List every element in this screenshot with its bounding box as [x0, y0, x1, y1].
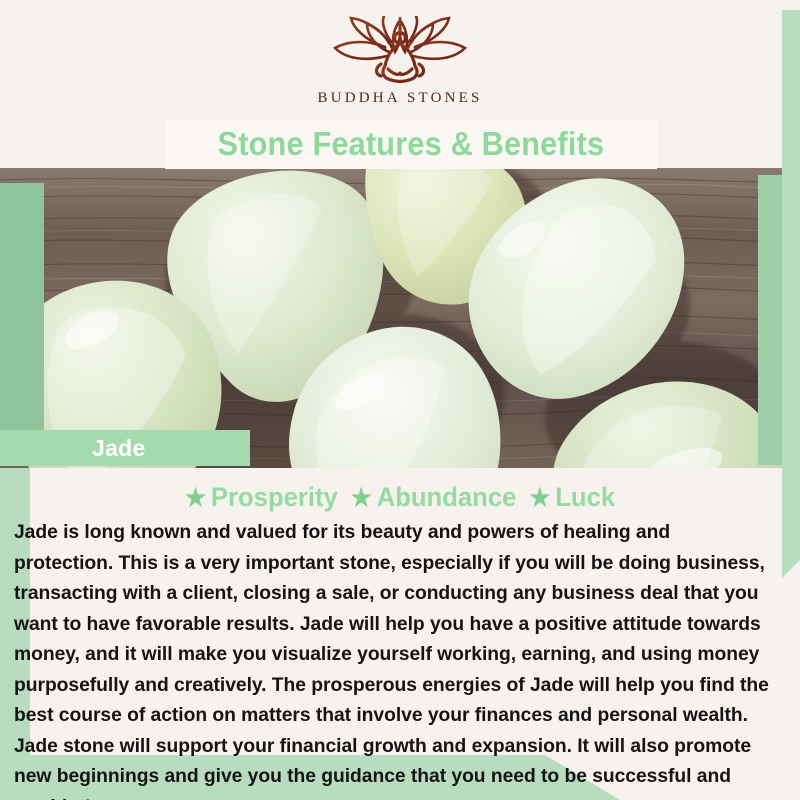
- keyword-item-abundance: ★Abundance: [351, 482, 517, 513]
- star-icon: ★: [185, 484, 206, 512]
- keyword-label: Luck: [555, 482, 615, 512]
- decoration-right-edge-bar: [782, 10, 800, 595]
- keyword-label: Prosperity: [211, 482, 338, 512]
- stone-description: Jade is long known and valued for its be…: [14, 517, 774, 800]
- stone-name-bar: Jade: [0, 430, 250, 466]
- keyword-list: ★Prosperity ★Abundance ★Luck: [20, 468, 780, 513]
- keyword-item-prosperity: ★Prosperity: [185, 482, 338, 513]
- brand-wordmark: BUDDHA STONES: [317, 90, 482, 107]
- star-icon: ★: [351, 484, 372, 512]
- infographic-card: BUDDHA STONES Stone Features & Benefits …: [0, 0, 800, 800]
- stone-name-label: Jade: [92, 435, 146, 462]
- section-title-banner: Stone Features & Benefits: [165, 119, 657, 169]
- keyword-label: Abundance: [377, 482, 517, 512]
- star-icon: ★: [529, 484, 550, 512]
- decoration-right-accent-bar: [758, 175, 782, 465]
- page-title: Stone Features & Benefits: [218, 125, 605, 163]
- decoration-left-accent-bar: [0, 183, 44, 466]
- brand-header: BUDDHA STONES: [0, 0, 800, 122]
- keyword-item-luck: ★Luck: [529, 482, 615, 513]
- jade-stones-photo: [0, 168, 800, 468]
- content-area: ★Prosperity ★Abundance ★Luck Jade is lon…: [0, 468, 800, 800]
- lotus-meditation-icon: [325, 16, 475, 88]
